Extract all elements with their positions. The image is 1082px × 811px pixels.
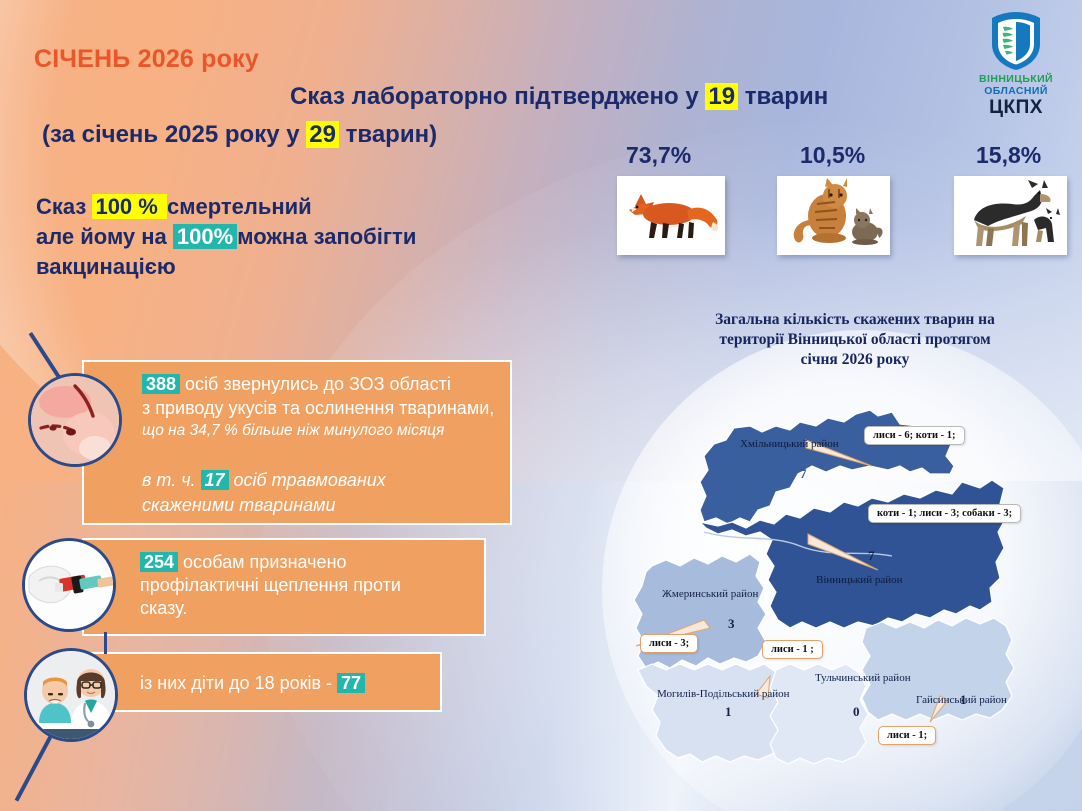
lab-confirmed-line: Сказ лабораторно підтверджено у 19 твари… [290, 83, 828, 111]
injured-count: 17 [201, 470, 229, 490]
map-callout-haisynskyi: лиси - 1; [878, 726, 936, 745]
map-title-line-1: Загальна кількість скажених тварин на [660, 310, 1050, 330]
fatality-line-1-prefix: Сказ [36, 194, 92, 219]
fatality-line-3: вакцинацією [36, 252, 416, 282]
district-count-zhmerynskyi: 3 [728, 616, 735, 632]
bites-line-4: в т. ч. 17 осіб травмованих [142, 468, 386, 493]
dogs-photo [954, 176, 1067, 255]
cats-photo [777, 176, 890, 255]
infographic-canvas: СІЧЕНЬ 2026 року Сказ лабораторно підтве… [0, 0, 1082, 811]
lab-confirmed-suffix: тварин [738, 83, 828, 110]
injured-suffix: осіб травмованих [229, 470, 386, 490]
children-line: із них діти до 18 років - 77 [140, 672, 365, 695]
vaccinated-line-1: 254 особам призначено [140, 551, 401, 574]
bites-line-5: скаженими тваринами [142, 493, 386, 518]
district-label-zhmerynskyi: Жмеринський район [662, 588, 758, 600]
district-count-khmilnytskyi: 7 [800, 466, 807, 482]
fox-icon [617, 176, 725, 255]
fatality-100-percent: 100 % [92, 194, 167, 219]
vinnytsia-region-map: Хмільницький район 7 Вінницький район 7 … [600, 370, 1082, 811]
vaccination-info-box: 254 особам призначено профілактичні щепл… [82, 538, 486, 636]
children-info-box: із них діти до 18 років - 77 [82, 652, 442, 712]
fatality-line-2-suffix: можна запобігти [237, 224, 416, 249]
vaccinated-count: 254 [140, 552, 178, 572]
cat-percent: 10,5% [800, 142, 865, 169]
bubble-stalk-2 [104, 632, 107, 654]
bites-line-2: з приводу укусів та ослинення тваринами, [142, 396, 494, 420]
map-callout-vinnytskyi: коти - 1; лиси - 3; собаки - 3; [868, 504, 1021, 523]
fatality-statement: Сказ 100 % смертельний але йому на 100%м… [36, 192, 416, 282]
bite-wound-icon [31, 376, 119, 464]
logo-line-2: ОБЛАСНИЙ [962, 85, 1070, 97]
children-count: 77 [337, 673, 365, 693]
bites-info-box: 388 осіб звернулись до ЗОЗ області з при… [82, 360, 512, 525]
map-title-line-2: території Вінницької області протягом [660, 330, 1050, 350]
district-label-mohyliv: Могилів-Подільський район [657, 688, 790, 700]
map-title-line-3: січня 2026 року [660, 350, 1050, 370]
bites-line-1-suffix: осіб звернулись до ЗОЗ області [180, 374, 451, 394]
vaccinated-line-1-suffix: особам призначено [178, 552, 346, 572]
dogs-icon [954, 176, 1067, 255]
dog-percent: 15,8% [976, 142, 1041, 169]
previous-year-prefix: (за січень 2025 року у [42, 121, 306, 148]
map-callout-mohyliv: лиси - 1 ; [762, 640, 823, 659]
fox-percent: 73,7% [626, 142, 691, 169]
fox-photo [617, 176, 725, 255]
bite-wound-photo [28, 373, 122, 467]
doctor-child-illustration [24, 648, 118, 742]
district-mohyliv-podilskyi [638, 664, 786, 762]
map-title: Загальна кількість скажених тварин на те… [660, 310, 1050, 370]
district-label-khmilnytskyi: Хмільницький район [740, 438, 839, 450]
syringe-photo [22, 538, 116, 632]
vaccinated-line-3: сказу. [140, 597, 401, 620]
children-prefix: із них діти до 18 років - [140, 673, 337, 693]
fatality-line-1-suffix: смертельний [167, 194, 312, 219]
bites-count: 388 [142, 374, 180, 394]
district-count-vinnytskyi: 7 [868, 548, 875, 564]
vaccinated-line-2: профілактичні щеплення проти [140, 574, 401, 597]
district-count-mohyliv: 1 [725, 704, 732, 720]
previous-year-line: (за січень 2025 року у 29 тварин) [42, 121, 437, 149]
syringe-icon [25, 541, 113, 629]
district-label-vinnytskyi: Вінницький район [816, 574, 902, 586]
prevention-100-percent: 100% [173, 224, 237, 249]
fatality-line-1: Сказ 100 % смертельний [36, 192, 416, 222]
logo-line-3: ЦКПХ [962, 97, 1070, 118]
lab-confirmed-value: 19 [705, 83, 738, 110]
shield-icon [986, 10, 1046, 72]
previous-year-value: 29 [306, 121, 339, 148]
fatality-line-2-prefix: але йому на [36, 224, 173, 249]
doctor-child-icon [27, 651, 115, 739]
district-count-haisynskyi: 1 [960, 692, 967, 708]
bites-line-1: 388 осіб звернулись до ЗОЗ області [142, 372, 494, 396]
previous-year-suffix: тварин) [339, 121, 437, 148]
lab-confirmed-prefix: Сказ лабораторно підтверджено у [290, 83, 705, 110]
map-callout-khmilnytskyi: лиси - 6; коти - 1; [864, 426, 965, 445]
district-label-tulchynskyi: Тульчинський район [815, 672, 911, 684]
district-count-tulchynskyi: 0 [853, 704, 860, 720]
logo-line-1: ВІННИЦЬКИЙ [962, 73, 1070, 85]
map-callout-zhmerynskyi: лиси - 3; [640, 634, 698, 653]
cats-icon [777, 176, 890, 255]
organization-logo: ВІННИЦЬКИЙ ОБЛАСНИЙ ЦКПХ [962, 10, 1070, 114]
injured-prefix: в т. ч. [142, 470, 201, 490]
fatality-line-2: але йому на 100%можна запобігти [36, 222, 416, 252]
bites-line-3: що на 34,7 % більше ніж минулого місяця [142, 420, 494, 442]
page-title: СІЧЕНЬ 2026 року [34, 45, 259, 74]
